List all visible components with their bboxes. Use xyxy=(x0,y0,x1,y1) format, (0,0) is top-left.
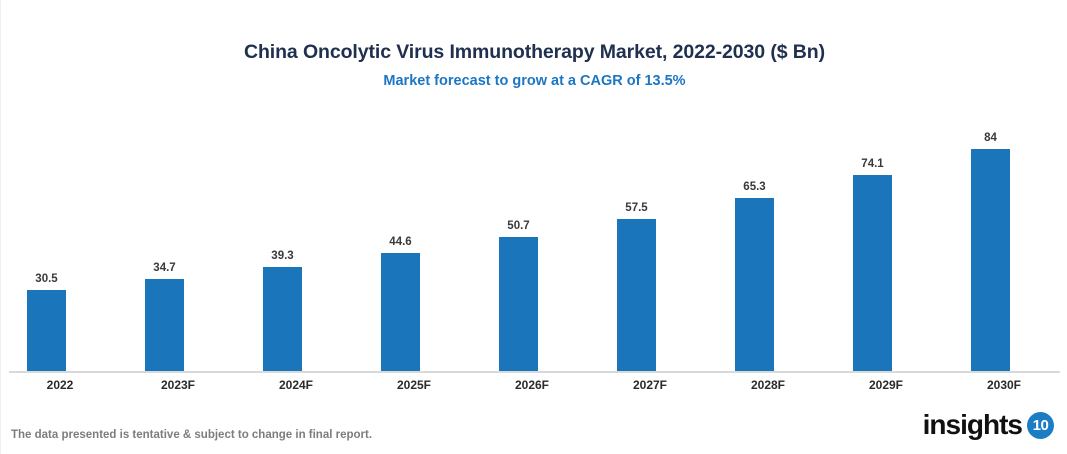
x-tick-label: 2030F xyxy=(945,375,1063,395)
bar-column[interactable]: 65.3 xyxy=(735,110,774,371)
bar-rect[interactable] xyxy=(971,149,1010,371)
bar-value-label: 39.3 xyxy=(271,250,293,263)
x-tick-label: 2028F xyxy=(709,375,827,395)
bar-rect[interactable] xyxy=(263,267,302,371)
bar-value-label: 57.5 xyxy=(625,202,647,215)
bar-rect[interactable] xyxy=(617,219,656,371)
disclaimer-text: The data presented is tentative & subjec… xyxy=(11,428,372,442)
bar-value-label: 44.6 xyxy=(389,236,411,249)
bar-group: 50.7 xyxy=(473,110,591,371)
bar-group: 74.1 xyxy=(827,110,945,371)
bar-group: 39.3 xyxy=(237,110,355,371)
bar-group: 84 xyxy=(945,110,1063,371)
chart-subtitle: Market forecast to grow at a CAGR of 13.… xyxy=(1,72,1067,90)
bar-column[interactable]: 50.7 xyxy=(499,110,538,371)
bar-column[interactable]: 84 xyxy=(971,110,1010,371)
bar-group: 57.5 xyxy=(591,110,709,371)
x-tick-label: 2026F xyxy=(473,375,591,395)
brand-badge-icon: 10 xyxy=(1027,412,1054,439)
bar-column[interactable]: 74.1 xyxy=(853,110,892,371)
bar-column[interactable]: 30.5 xyxy=(27,110,66,371)
bar-value-label: 65.3 xyxy=(743,181,765,194)
x-tick-label: 2025F xyxy=(355,375,473,395)
bar-rect[interactable] xyxy=(499,237,538,371)
x-tick-label: 2027F xyxy=(591,375,709,395)
bar-group: 44.6 xyxy=(355,110,473,371)
x-axis-labels: 2022 2023F 2024F 2025F 2026F 2027F 2028F… xyxy=(1,375,1067,397)
bar-column[interactable]: 39.3 xyxy=(263,110,302,371)
bar-group: 30.5 xyxy=(1,110,119,371)
plot-area: 30.5 34.7 39.3 44.6 50.7 xyxy=(1,110,1067,373)
page-title: China Oncolytic Virus Immunotherapy Mark… xyxy=(1,40,1067,64)
x-tick-label: 2023F xyxy=(119,375,237,395)
bar-rect[interactable] xyxy=(27,290,66,371)
chart-container: China Oncolytic Virus Immunotherapy Mark… xyxy=(0,0,1067,454)
x-tick-label: 2024F xyxy=(237,375,355,395)
brand-wordmark: insights xyxy=(923,410,1022,440)
bar-rect[interactable] xyxy=(853,175,892,371)
bar-rect[interactable] xyxy=(735,198,774,371)
x-tick-label: 2029F xyxy=(827,375,945,395)
bar-rect[interactable] xyxy=(381,253,420,371)
bar-group: 34.7 xyxy=(119,110,237,371)
x-axis-baseline xyxy=(9,371,1060,373)
x-tick-label: 2022 xyxy=(1,375,119,395)
bar-value-label: 84 xyxy=(984,132,997,145)
bar-column[interactable]: 44.6 xyxy=(381,110,420,371)
bar-value-label: 34.7 xyxy=(153,262,175,275)
bar-value-label: 30.5 xyxy=(35,273,57,286)
bar-column[interactable]: 34.7 xyxy=(145,110,184,371)
bar-group: 65.3 xyxy=(709,110,827,371)
brand-logo: insights 10 xyxy=(923,408,1054,442)
title-block: China Oncolytic Virus Immunotherapy Mark… xyxy=(1,40,1067,90)
bar-value-label: 50.7 xyxy=(507,220,529,233)
bar-column[interactable]: 57.5 xyxy=(617,110,656,371)
bar-value-label: 74.1 xyxy=(861,158,883,171)
bar-rect[interactable] xyxy=(145,279,184,371)
